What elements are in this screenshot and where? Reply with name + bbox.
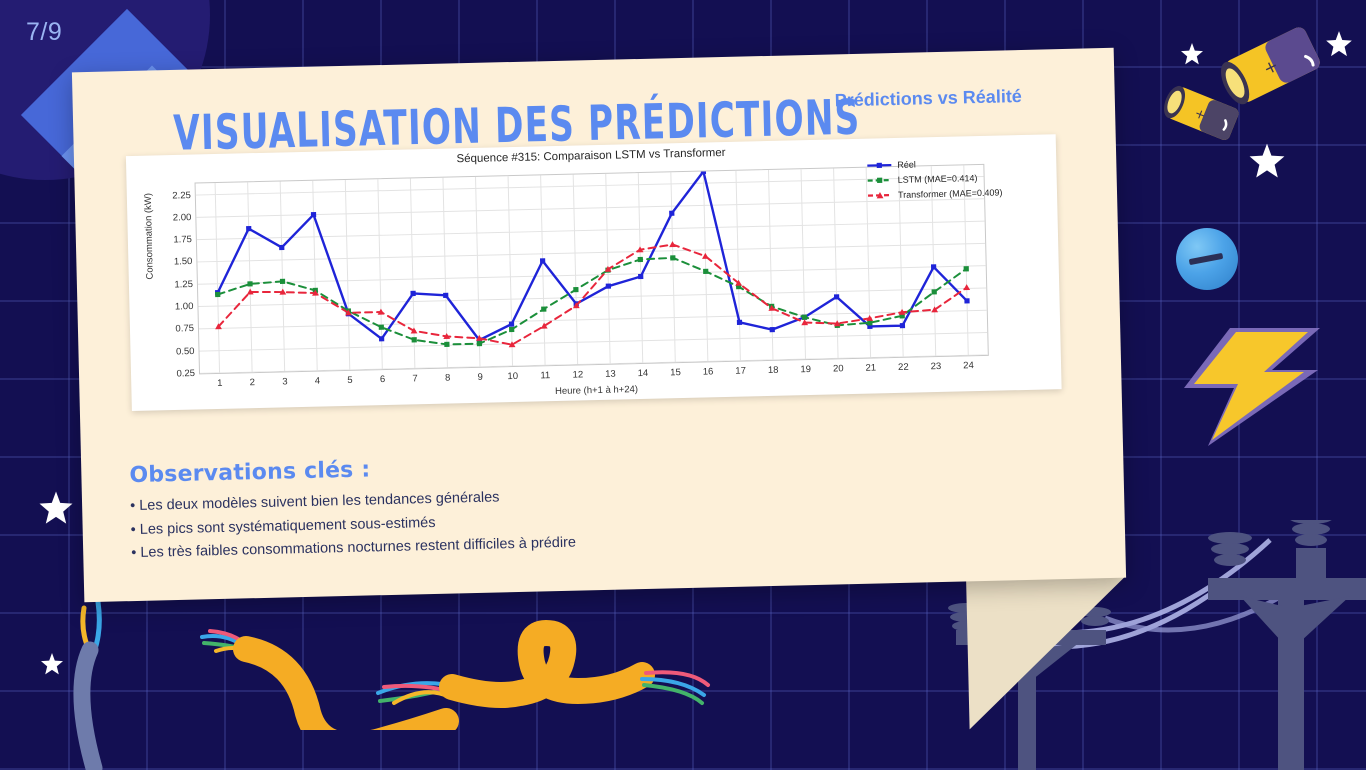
legend-swatch-icon [866, 160, 892, 171]
chart-x-tick: 22 [898, 362, 909, 373]
page-subtitle: Prédictions vs Réalité [835, 86, 1023, 111]
content-card: VISUALISATION DES PRÉDICTIONS Prédiction… [72, 48, 1126, 602]
chart-x-tick: 9 [477, 372, 483, 383]
legend-label: Réel [897, 157, 916, 172]
chart-x-tick: 18 [768, 365, 779, 376]
chart-y-tick: 1.50 [174, 257, 193, 268]
chart-y-tick: 0.25 [176, 368, 195, 379]
legend-label: Transformer (MAE=0.409) [898, 185, 1003, 202]
electric-cable-icon [40, 588, 150, 770]
chart-x-axis-label: Heure (h+1 à h+24) [132, 374, 1062, 407]
star-icon [40, 652, 64, 676]
star-icon [1180, 42, 1204, 66]
chart-x-tick: 8 [445, 373, 451, 384]
chart-legend: RéelLSTM (MAE=0.414)Transformer (MAE=0.4… [866, 155, 1002, 203]
chart-x-tick: 7 [412, 373, 418, 384]
chart-x-tick: 24 [963, 360, 974, 371]
chart-x-tick: 19 [800, 364, 811, 375]
chart-x-tick: 10 [507, 371, 518, 382]
chart-y-tick: 0.75 [175, 323, 194, 334]
chart-x-tick: 12 [572, 369, 583, 380]
star-icon [38, 490, 74, 526]
chart-x-tick: 14 [638, 368, 649, 379]
page-indicator: 7/9 [26, 18, 62, 47]
chart-y-tick: 2.00 [173, 212, 192, 223]
chart-x-tick: 23 [931, 361, 942, 372]
chart-x-tick: 20 [833, 363, 844, 374]
chart-x-tick: 13 [605, 369, 616, 380]
chart-panel: Séquence #315: Comparaison LSTM vs Trans… [126, 134, 1062, 411]
chart-y-tick: 2.25 [172, 190, 191, 201]
chart-y-tick: 1.75 [173, 234, 192, 245]
chart-x-tick: 11 [540, 370, 550, 381]
chart-x-tick: 6 [380, 374, 386, 385]
star-icon [1325, 30, 1353, 58]
chart-x-tick: 4 [315, 376, 321, 387]
chart-x-tick: 15 [670, 367, 681, 378]
chart-x-tick: 2 [250, 377, 256, 388]
chart-x-tick: 3 [282, 376, 288, 387]
legend-swatch-icon [867, 175, 893, 186]
observations-heading: Observations clés : [129, 457, 370, 488]
observations-list: Les deux modèles suivent bien les tendan… [130, 485, 576, 566]
chart-x-tick: 16 [703, 366, 714, 377]
electric-cable-icon [180, 605, 820, 730]
legend-swatch-icon [867, 190, 893, 201]
star-icon [1248, 142, 1286, 180]
chart-y-tick: 1.00 [175, 301, 194, 312]
chart-x-tick: 17 [735, 366, 746, 377]
negative-terminal-sphere-icon [1176, 228, 1238, 290]
chart-y-axis-label: Consommation (kW) [143, 193, 156, 280]
chart-x-tick: 21 [865, 362, 876, 373]
lightning-bolt-icon [1168, 322, 1328, 452]
chart-x-tick: 1 [217, 378, 223, 389]
slide-canvas: 7/9 + + [0, 0, 1366, 770]
chart-y-tick: 1.25 [174, 279, 193, 290]
chart-y-tick: 0.50 [176, 346, 195, 357]
chart-x-tick: 5 [347, 375, 353, 386]
